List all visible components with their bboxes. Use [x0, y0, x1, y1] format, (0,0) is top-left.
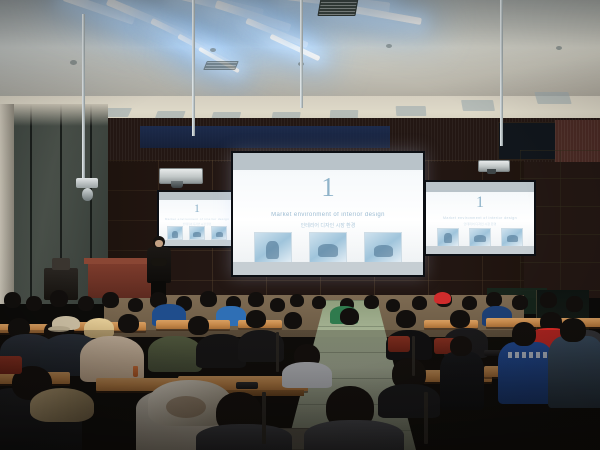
slide-thumbnails [426, 228, 534, 247]
desk [178, 376, 308, 391]
desk [420, 370, 492, 382]
chair-back [388, 336, 410, 352]
varsity-jacket-lettering [508, 352, 550, 358]
audience-coat [40, 334, 102, 376]
av-equipment [52, 258, 70, 270]
beige-coat [80, 336, 144, 382]
slide-thumbnail-image [437, 228, 459, 247]
support-pole [300, 0, 303, 108]
desk-edge [186, 390, 304, 396]
audience-coat [0, 388, 82, 450]
audience-coat [440, 352, 484, 410]
soffit-panel [534, 92, 571, 104]
audience-head [216, 392, 262, 434]
audience-head [450, 336, 472, 356]
support-pole [500, 0, 503, 146]
slide-number: 1 [233, 174, 423, 201]
right-projection-screen: 1 Market environment of interior design … [424, 180, 536, 256]
slide-number: 1 [159, 202, 235, 214]
left-wall-highlight [0, 104, 108, 126]
audience-head [12, 366, 52, 400]
seat-railing [424, 392, 428, 444]
soffit-panel [461, 100, 495, 111]
slide-thumbnail-image [469, 228, 491, 247]
hood-shadow [166, 396, 206, 418]
stage-floor [104, 295, 524, 337]
flat-cap [52, 316, 80, 330]
screen-bottom-band [233, 262, 423, 275]
support-pole [82, 14, 85, 180]
phone-on-desk [236, 382, 258, 389]
blue-wall-strip [140, 126, 390, 148]
side-exit-door[interactable] [536, 290, 589, 352]
slide-number: 1 [426, 195, 534, 211]
slide-title-english: Market environment of interior design [233, 212, 423, 218]
ceiling-speaker-mount [76, 178, 98, 188]
projector-lens-icon [487, 169, 496, 174]
audience-head [8, 318, 30, 338]
presenter-face [155, 240, 163, 247]
screen-top-band [233, 153, 423, 170]
desk [96, 378, 192, 391]
chair-back [434, 338, 456, 354]
chair-back [0, 356, 22, 374]
left-wall-edge [0, 104, 14, 304]
cap-brim [48, 326, 70, 332]
slide-thumbnail-image [309, 232, 347, 264]
desk [0, 372, 70, 384]
slide-thumbnails [233, 232, 423, 264]
chair-back [2, 438, 44, 450]
slide-title-english: Market environment of interior design [426, 216, 534, 220]
slide-thumbnail-image [189, 226, 205, 240]
slide-thumbnail-image [211, 226, 227, 240]
desk [484, 366, 550, 377]
soffit-panel [396, 106, 427, 116]
phone-on-desk [484, 350, 502, 356]
floor-mat [270, 428, 368, 450]
screen-top-band [159, 192, 235, 200]
audience-coat [0, 334, 56, 374]
av-equipment [44, 268, 78, 300]
presenter-arm [151, 258, 167, 266]
audience-coat [148, 336, 202, 372]
orange-bottle [133, 366, 138, 377]
puffer-jacket [136, 390, 242, 450]
screen-top-band [426, 182, 534, 192]
presenter [146, 236, 172, 298]
seat-railing [276, 332, 279, 372]
projector-lens-icon [171, 181, 183, 188]
lecture-hall-photo: 1 Market environment of interior design … [0, 0, 600, 450]
support-pole [192, 0, 195, 136]
presenter-legs [151, 281, 166, 298]
slide-thumbnail-image [254, 232, 292, 264]
seat-railing [262, 392, 266, 444]
slide-title-english: Market environment of interior design [159, 217, 235, 221]
seat-railing [412, 336, 415, 376]
jacket-hood [148, 380, 232, 426]
slide-title-korean: 인테리어 디자인 시장 환경 [426, 222, 534, 226]
slide-thumbnail-image [364, 232, 402, 264]
screen-bottom-band [426, 246, 534, 254]
slide-title-korean: 인테리어 디자인 시장 환경 [233, 222, 423, 229]
slide-thumbnail-image [501, 228, 523, 247]
audience-coat [196, 334, 246, 368]
center-projection-screen: 1 Market environment of interior design … [231, 151, 425, 277]
audience-head [44, 322, 64, 341]
ceiling-speaker-icon [82, 188, 93, 201]
desk [0, 324, 60, 333]
fur-hood [30, 388, 94, 422]
